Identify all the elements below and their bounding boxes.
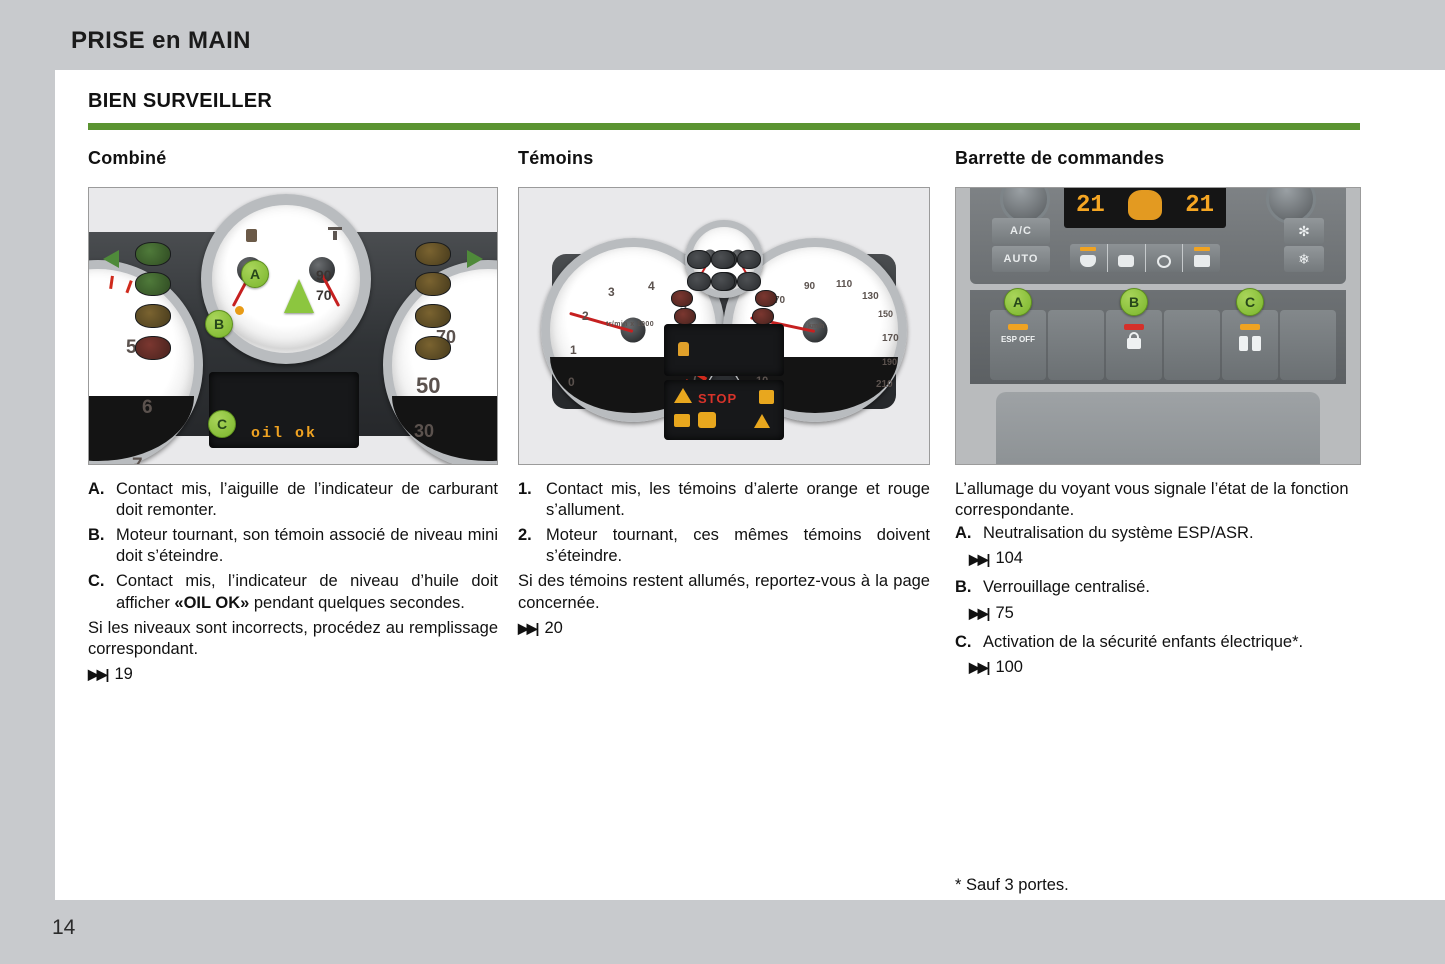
column-2-body: 1. Contact mis, les témoins d’alerte ora…	[518, 479, 930, 639]
central-locking-button[interactable]	[1106, 310, 1162, 380]
tacho-3: 3	[608, 285, 615, 299]
face-vent-icon	[1118, 255, 1134, 267]
page-reference-19[interactable]: ▶▶| 19	[88, 664, 498, 685]
tacho-number-7: 7	[132, 455, 143, 465]
esp-off-button[interactable]: ESP OFF	[990, 310, 1046, 380]
manual-page: PRISE en MAIN BIEN SURVEILLER Combiné 5 …	[0, 0, 1445, 964]
battery-telltale-icon-2	[674, 308, 696, 325]
tacho-number-6: 6	[142, 397, 153, 419]
item-text-c: Activation de la sécurité enfants électr…	[983, 632, 1361, 653]
trip-computer-display-2	[664, 324, 784, 376]
lights-telltale-icon	[135, 242, 171, 266]
column-3-intro: L’allumage du voyant vous signale l’état…	[955, 479, 1361, 521]
callout-badge-b: B	[205, 310, 233, 338]
temp-number-90: 90	[316, 267, 332, 283]
column-heading-combine: Combiné	[88, 148, 498, 169]
dipped-beam-telltale-icon	[135, 272, 171, 296]
warning-triangle-icon	[674, 388, 692, 403]
page-reference-75[interactable]: ▶▶| 75	[955, 603, 1361, 624]
coolant-temp-icon-stem	[333, 231, 337, 240]
page-reference-100[interactable]: ▶▶| 100	[955, 657, 1361, 678]
snowflake-button[interactable]: ❄	[1284, 246, 1324, 272]
ac-button[interactable]: A/C	[992, 218, 1050, 244]
item-key-b: B.	[88, 525, 116, 567]
list-item: 2. Moteur tournant, ces mêmes témoins do…	[518, 525, 930, 567]
esp-led-indicator	[1008, 324, 1028, 330]
speedo-210: 210	[876, 379, 893, 390]
speedo-170: 170	[882, 333, 899, 344]
led-indicator	[1194, 247, 1210, 251]
item-text-c-after: pendant quelques secondes.	[249, 594, 465, 612]
auto-button[interactable]: AUTO	[992, 246, 1050, 272]
display-left-temperature: 21	[1076, 192, 1105, 219]
turn-signal-left-icon	[103, 250, 119, 268]
callout-badge-a: A	[241, 260, 269, 288]
page-number: 14	[52, 916, 75, 940]
rear-demist-button[interactable]	[1183, 244, 1220, 272]
item-text-1: Contact mis, les témoins d’alerte orange…	[546, 479, 930, 521]
rear-demist-icon	[1194, 255, 1210, 267]
item-text-2: Moteur tournant, ces mêmes témoins doive…	[546, 525, 930, 567]
climate-display: 21 21	[1064, 187, 1226, 228]
column-heading-temoins: Témoins	[518, 148, 930, 169]
list-item: C. Contact mis, l’indicateur de niveau d…	[88, 571, 498, 613]
esp-warning-icon	[698, 412, 716, 428]
page-ref-number: 20	[544, 618, 562, 639]
lock-shackle-icon	[1129, 332, 1139, 340]
list-item: A. Neutralisation du système ESP/ASR.	[955, 523, 1361, 544]
list-item: A. Contact mis, l’aiguille de l’indicate…	[88, 479, 498, 521]
airflow-mode-buttons	[1070, 244, 1220, 272]
callout-badge-a: A	[1004, 288, 1032, 316]
demist-icon	[1080, 255, 1096, 267]
speedo-130: 130	[862, 291, 879, 302]
column-heading-barrette: Barrette de commandes	[955, 148, 1361, 169]
page-ref-number: 75	[995, 603, 1013, 624]
footnote: * Sauf 3 portes.	[955, 876, 1069, 895]
page-ref-arrow-icon: ▶▶|	[969, 552, 988, 566]
speedo-110: 110	[836, 279, 852, 290]
column-barrette: Barrette de commandes 21 21 A/C AUTO	[955, 148, 1361, 686]
rear-fog-telltale-icon	[415, 272, 451, 296]
stop-warning-text: STOP	[698, 391, 737, 406]
page-ref-arrow-icon: ▶▶|	[518, 621, 537, 635]
esp-off-label: ESP OFF	[990, 336, 1046, 345]
engine-telltale-icon	[415, 304, 451, 328]
speedo-90: 90	[804, 281, 815, 292]
warning-indicator-panel: STOP	[664, 380, 784, 440]
blank-button-2[interactable]	[1164, 310, 1220, 380]
column-1-paragraph: Si les niveaux sont incorrects, procédez…	[88, 618, 498, 660]
photo-control-strip: 21 21 A/C AUTO	[955, 187, 1361, 465]
page-reference-104[interactable]: ▶▶| 104	[955, 548, 1361, 569]
item-text-c: Contact mis, l’indicateur de niveau d’hu…	[116, 571, 498, 613]
airflow-pictogram-icon	[1128, 190, 1162, 220]
list-item: B. Verrouillage centralisé.	[955, 577, 1361, 598]
page-ref-number: 19	[114, 664, 132, 685]
page-title: PRISE en MAIN	[71, 27, 251, 55]
column-2-paragraph: Si des témoins restent allumés, reportez…	[518, 571, 930, 613]
page-ref-number: 104	[995, 548, 1023, 569]
section-title: BIEN SURVEILLER	[88, 90, 272, 113]
section-divider-rule	[88, 123, 1360, 130]
speedo-190: 190	[882, 357, 897, 367]
item-key-c: C.	[88, 571, 116, 613]
fuel-temperature-gauge: 90 70	[201, 194, 371, 364]
warning-triangle-icon-2	[754, 414, 770, 428]
lock-led-indicator	[1124, 324, 1144, 330]
speedo-caption: km/h	[808, 323, 824, 330]
page-ref-number: 100	[995, 657, 1023, 678]
coolant-temp-icon	[328, 227, 342, 230]
blank-button-1[interactable]	[1048, 310, 1104, 380]
trip-computer-display: oil ok	[209, 372, 359, 448]
list-item: 1. Contact mis, les témoins d’alerte ora…	[518, 479, 930, 521]
brake-telltale-icon	[135, 336, 171, 360]
storage-tray	[996, 392, 1320, 465]
tacho-4: 4	[648, 279, 655, 293]
item-key-b: B.	[955, 577, 983, 598]
speedo-150: 150	[878, 309, 893, 319]
windscreen-demist-button[interactable]	[1070, 244, 1108, 272]
mini-level-warning-lamp	[235, 306, 244, 315]
item-text-b: Moteur tournant, son témoin associé de n…	[116, 525, 498, 567]
item-text-a: Contact mis, l’aiguille de l’indicateur …	[116, 479, 498, 521]
page-ref-arrow-icon: ▶▶|	[969, 660, 988, 674]
face-vent-button[interactable]	[1108, 244, 1146, 272]
display-right-temperature: 21	[1185, 192, 1214, 219]
tacho-0: 0	[568, 375, 575, 389]
tacho-caption: tr/min x 1000	[606, 321, 654, 328]
callout-badge-b: B	[1120, 288, 1148, 316]
page-ref-arrow-icon: ▶▶|	[88, 667, 107, 681]
item-text-a: Neutralisation du système ESP/ASR.	[983, 523, 1361, 544]
recirculation-icon	[1157, 255, 1171, 268]
callout-badge-c: C	[208, 410, 236, 438]
page-ref-arrow-icon: ▶▶|	[969, 606, 988, 620]
list-item: B. Moteur tournant, son témoin associé d…	[88, 525, 498, 567]
fan-speed-button[interactable]: ✻	[1284, 218, 1324, 244]
temp-number-70: 70	[316, 287, 332, 303]
tacho-2: 2	[582, 309, 589, 323]
fuel-warning-icon	[674, 414, 690, 427]
tacho-1: 1	[570, 343, 577, 357]
seatbelt-telltale-icon	[415, 336, 451, 360]
item-key-1: 1.	[518, 479, 546, 521]
service-warning-icon	[759, 390, 774, 404]
photo-instrument-cluster-closeup: 5 6 7 70 50 30 10	[88, 187, 498, 465]
oil-ok-emphasis: «OIL OK»	[174, 594, 249, 612]
item-key-a: A.	[955, 523, 983, 544]
recirculation-button[interactable]	[1146, 244, 1184, 272]
item-text-b: Verrouillage centralisé.	[983, 577, 1361, 598]
page-sheet: BIEN SURVEILLER Combiné 5 6 7	[55, 70, 1445, 900]
fuel-pump-icon	[246, 229, 257, 242]
column-combine: Combiné 5 6 7	[88, 148, 498, 693]
child-safety-icon-2	[1252, 336, 1261, 351]
bulb-warning-icon	[678, 342, 689, 356]
item-key-c: C.	[955, 632, 983, 653]
column-1-body: A. Contact mis, l’aiguille de l’indicate…	[88, 479, 498, 685]
speedo-number-50: 50	[416, 373, 440, 399]
column-temoins: Témoins 0 1 2 3 4 5 6 7 tr/min x 1000	[518, 148, 930, 647]
child-safety-icon	[1239, 336, 1248, 351]
item-key-a: A.	[88, 479, 116, 521]
turn-signal-right-icon	[467, 250, 483, 268]
callout-badge-c: C	[1236, 288, 1264, 316]
speedo-number-30: 30	[414, 421, 434, 442]
photo-full-instrument-cluster: 0 1 2 3 4 5 6 7 tr/min x 1000	[518, 187, 930, 465]
led-indicator	[1080, 247, 1096, 251]
blank-button-3[interactable]	[1280, 310, 1336, 380]
door-open-telltale-icon	[671, 290, 693, 307]
child-safety-led-indicator	[1240, 324, 1260, 330]
child-safety-button[interactable]	[1222, 310, 1278, 380]
brake-telltale-icon-2	[755, 290, 777, 307]
list-item: C. Activation de la sécurité enfants éle…	[955, 632, 1361, 653]
item-key-2: 2.	[518, 525, 546, 567]
battery-telltale-icon	[135, 304, 171, 328]
page-header-band: PRISE en MAIN	[0, 0, 1445, 70]
fog-lamp-telltale-icon	[415, 242, 451, 266]
airbag-telltale-icon	[752, 308, 774, 325]
page-reference-20[interactable]: ▶▶| 20	[518, 618, 930, 639]
column-3-body: L’allumage du voyant vous signale l’état…	[955, 479, 1361, 678]
